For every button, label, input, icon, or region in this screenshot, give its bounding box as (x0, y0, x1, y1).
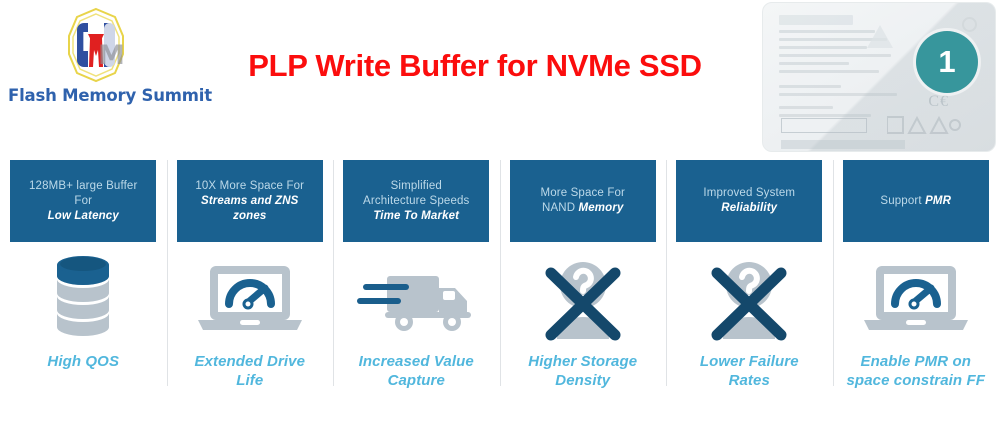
tile-line-plain: NAND (542, 202, 579, 214)
fms-logo-mark-icon: F M (57, 6, 135, 84)
tile-line-plain: Support (880, 195, 925, 207)
tile-line: For (74, 194, 92, 209)
ssd-product-image: C€ 1 (762, 2, 996, 152)
page-title: PLP Write Buffer for NVMe SSD (195, 48, 755, 84)
benefit-icon-slot (357, 250, 475, 348)
delivery-truck-icon (357, 262, 475, 336)
benefit-column: 128MB+ large Buffer For Low Latency (0, 152, 167, 434)
tile-line: Architecture Speeds (363, 194, 469, 209)
benefit-column: Simplified Architecture Speeds Time To M… (333, 152, 500, 434)
tile-line-emphasis: Low Latency (48, 209, 119, 224)
benefit-caption: Enable PMR on space constrain FF (846, 352, 986, 390)
benefit-column: Support PMR Enable PMR on space constrai… (833, 152, 999, 434)
person-question-crossed-icon (703, 255, 795, 343)
tile-line: More Space For (540, 186, 625, 201)
tile-line-emphasis: Memory (579, 202, 624, 214)
benefit-icon-slot (196, 250, 304, 348)
tile-line-emphasis: Time To Market (373, 209, 459, 224)
tile-line: 10X More Space For (195, 179, 304, 194)
tile-line: Improved System (703, 186, 795, 201)
tile-line-mixed: NAND Memory (542, 201, 624, 216)
tile-line-emphasis: zones (233, 209, 266, 224)
step-badge: 1 (916, 31, 978, 93)
svg-text:M: M (98, 40, 125, 71)
tile-line-emphasis: PMR (925, 195, 951, 207)
benefit-tile: 10X More Space For Streams and ZNS zones (177, 160, 323, 242)
benefit-column: More Space For NAND Memory Higher Storag… (500, 152, 667, 434)
benefit-tile: More Space For NAND Memory (510, 160, 656, 242)
benefit-caption: Increased Value Capture (346, 352, 486, 390)
benefit-caption: High QOS (47, 352, 119, 371)
laptop-speedometer-icon (196, 260, 304, 338)
benefit-tile: 128MB+ large Buffer For Low Latency (10, 160, 156, 242)
database-stack-icon (44, 253, 122, 345)
fms-logo-text: Flash Memory Summit (8, 86, 184, 105)
tile-line: 128MB+ large Buffer (29, 179, 137, 194)
tile-line-emphasis: Reliability (721, 201, 777, 216)
benefit-tile: Support PMR (843, 160, 989, 242)
slide-header: F M Flash Memory Summit PLP Write Buffer… (0, 0, 999, 150)
benefit-icon-slot (537, 250, 629, 348)
benefit-icon-slot (44, 250, 122, 348)
benefit-caption: Higher Storage Density (513, 352, 653, 390)
benefit-tile: Simplified Architecture Speeds Time To M… (343, 160, 489, 242)
benefit-icon-slot (703, 250, 795, 348)
benefit-caption: Extended Drive Life (180, 352, 320, 390)
benefit-column: 10X More Space For Streams and ZNS zones… (167, 152, 334, 434)
benefit-caption: Lower Failure Rates (679, 352, 819, 390)
fms-logo-svg: F M (57, 6, 135, 84)
tile-line-emphasis: Streams and ZNS (201, 194, 298, 209)
benefit-icon-slot (862, 250, 970, 348)
tile-line: Simplified (391, 179, 442, 194)
laptop-speedometer-icon (862, 260, 970, 338)
benefit-columns: 128MB+ large Buffer For Low Latency (0, 152, 999, 434)
flash-memory-summit-logo: F M Flash Memory Summit (8, 6, 184, 116)
benefit-column: Improved System Reliability Lower Failur… (666, 152, 833, 434)
benefit-tile: Improved System Reliability (676, 160, 822, 242)
person-question-crossed-icon (537, 255, 629, 343)
tile-line-mixed: Support PMR (880, 194, 951, 209)
